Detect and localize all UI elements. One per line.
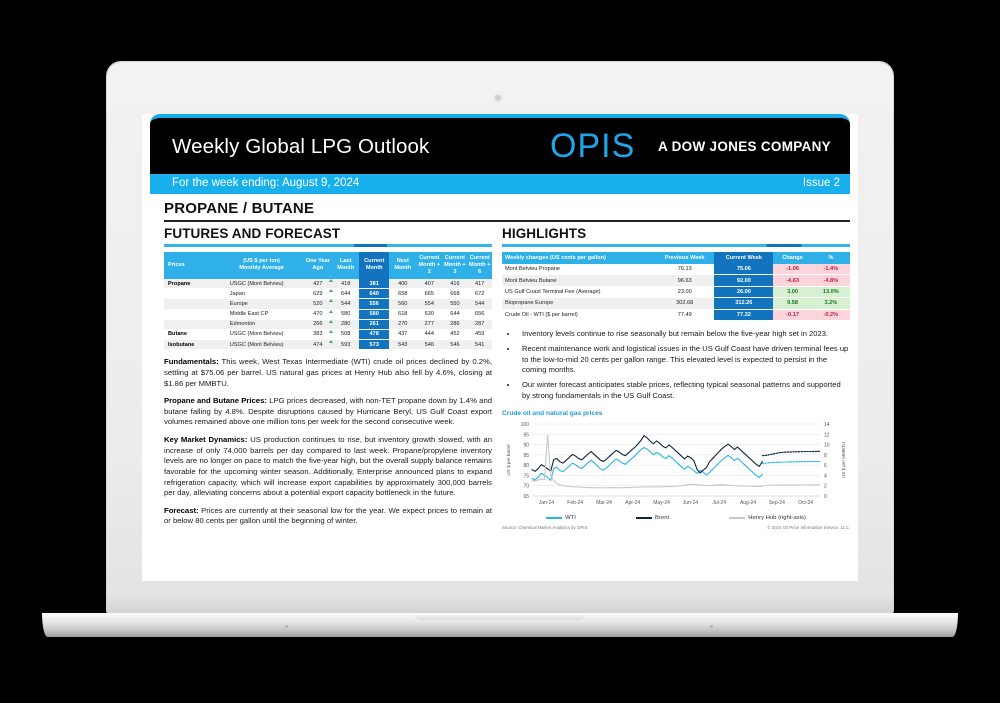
chart-ytick-left: 75 (523, 473, 529, 479)
chart-ytick-left: 100 (521, 422, 530, 428)
futures-cm3-0: 416 (442, 279, 467, 289)
futures-col-header-3: Last Month (332, 252, 359, 279)
highlights-col-header-0: Weekly changes (US cents per gallon) (502, 252, 655, 264)
chart-ytick-left: 80 (523, 463, 529, 469)
highlights-pct-0: -1.4% (812, 264, 850, 275)
masthead: Weekly Global LPG Outlook OPIS A DOW JON… (150, 114, 850, 174)
futures-cm2-6: 546 (416, 340, 442, 350)
paragraph-lead-1: Propane and Butane Prices: (164, 396, 267, 405)
table-row: PropaneUSGC (Mont Belvieu)42741838140040… (164, 279, 492, 289)
legend-label: WTI (565, 515, 576, 521)
triangle-up-icon (329, 310, 333, 313)
futures-label-4: Edmonton (220, 319, 304, 329)
highlight-bullet-1: Recent maintenance work and logistical i… (518, 344, 850, 376)
table-row: Biopropane Europe302.68312.269.583.2% (502, 298, 850, 309)
chart-xtick: Jul-24 (712, 500, 726, 506)
body-paragraph-3: Forecast: Prices are currently at their … (164, 506, 492, 527)
highlights-change-1: -4.63 (773, 275, 811, 286)
chart-legend-entry: WTI (546, 515, 576, 521)
triangle-up-icon (329, 330, 333, 333)
futures-group-6: Isobutane (164, 340, 220, 350)
triangle-up-icon (329, 279, 333, 282)
highlights-current-week-3: 312.26 (714, 298, 773, 309)
futures-cm2-2: 554 (416, 299, 442, 309)
highlights-pct-4: -0.2% (812, 309, 850, 320)
page-title: Weekly Global LPG Outlook (172, 135, 429, 159)
highlights-item-3: Biopropane Europe (502, 298, 655, 309)
futures-col-header-4: Current Month (359, 252, 389, 279)
futures-one-year-ago-6: 474 (303, 340, 332, 350)
futures-next-month-6: 543 (389, 340, 416, 350)
futures-cm3-3: 644 (442, 309, 467, 319)
chart-series-wti-forecast (762, 461, 820, 463)
highlights-column: HIGHLIGHTS Weekly changes (US cents per … (502, 226, 850, 530)
futures-next-month-1: 658 (389, 289, 416, 299)
futures-cm6-3: 656 (467, 309, 492, 319)
futures-cm6-5: 459 (467, 329, 492, 339)
table-row: Edmonton266280261270277286287 (164, 319, 492, 329)
futures-and-forecast-column: FUTURES AND FORECAST Prices(US $ per ton… (164, 226, 492, 527)
table-row: Europe520544556560554550544 (164, 299, 492, 309)
futures-group-3 (164, 309, 220, 319)
chart-xtick: Sep-24 (769, 500, 785, 506)
chart-ylabel-left: US $ per barrel (506, 444, 511, 475)
table-row: ButaneUSGC (Mont Belvieu)383508478437444… (164, 329, 492, 339)
futures-col-header-8: Current Month + 6 (467, 252, 492, 279)
highlights-table-header-row: Weekly changes (US cents per gallon)Prev… (502, 252, 850, 264)
chart-legend-entry: Henry Hub (right-axis) (729, 515, 806, 521)
chart-xtick: Apr-24 (625, 500, 640, 506)
futures-col-header-0: Prices (164, 252, 220, 279)
highlights-current-week-2: 26.00 (714, 286, 773, 297)
chart-legend: WTIBrentHenry Hub (right-axis) (502, 515, 850, 521)
highlights-change-0: -1.06 (773, 264, 811, 275)
chart-source: Source: Chemical Market Analytics by OPI… (502, 525, 587, 530)
highlights-bullet-list: Inventory levels continue to rise season… (502, 329, 850, 402)
triangle-up-icon (329, 289, 333, 292)
legend-swatch-icon (546, 517, 562, 519)
chart-ylabel-right: US $ per MMBTU (841, 442, 846, 478)
laptop-base (42, 613, 958, 637)
table-row: US Gulf Coast Terminal Fee (Average)23.0… (502, 286, 850, 297)
futures-cm6-6: 541 (467, 340, 492, 350)
futures-current-month-0: 381 (359, 279, 389, 289)
highlights-heading-rule (502, 244, 850, 247)
futures-cm6-4: 287 (467, 319, 492, 329)
futures-current-month-1: 640 (359, 289, 389, 299)
highlights-item-1: Mont Belvieu Butane (502, 275, 655, 286)
chart-series-brent (532, 435, 762, 472)
futures-last-month-3: 580 (332, 309, 359, 319)
futures-one-year-ago-4: 266 (303, 319, 332, 329)
futures-table-body: PropaneUSGC (Mont Belvieu)42741838140040… (164, 279, 492, 350)
triangle-up-icon (329, 340, 333, 343)
highlights-current-week-4: 77.32 (714, 309, 773, 320)
futures-label-2: Europe (220, 299, 304, 309)
chart-copyright: © 2024 Oil Price Information Service, LL… (767, 525, 850, 530)
futures-table: Prices(US $ per ton)Monthly AverageOne Y… (164, 252, 492, 350)
chart-xtick: May-24 (653, 500, 670, 506)
futures-cm2-5: 444 (416, 329, 442, 339)
futures-cm2-3: 630 (416, 309, 442, 319)
futures-cm3-1: 668 (442, 289, 467, 299)
webcam-icon (495, 95, 501, 101)
futures-table-header-row: Prices(US $ per ton)Monthly AverageOne Y… (164, 252, 492, 279)
body-paragraph-2: Key Market Dynamics: US production conti… (164, 435, 492, 499)
futures-cm3-6: 546 (442, 340, 467, 350)
chart-ytick-right: 12 (824, 432, 830, 438)
futures-group-1 (164, 289, 220, 299)
paragraph-lead-2: Key Market Dynamics: (164, 435, 247, 444)
futures-label-6: USGC (Mont Belvieu) (220, 340, 304, 350)
futures-one-year-ago-1: 629 (303, 289, 332, 299)
chart-ytick-left: 65 (523, 494, 529, 500)
highlight-bullet-0: Inventory levels continue to rise season… (518, 329, 850, 340)
futures-one-year-ago-2: 520 (303, 299, 332, 309)
table-row: Japan629644640658665668672 (164, 289, 492, 299)
chart-ytick-right: 8 (824, 452, 827, 458)
futures-last-month-5: 508 (332, 329, 359, 339)
document-page: Weekly Global LPG Outlook OPIS A DOW JON… (142, 114, 858, 581)
chart-series-henry-hub-right-axis- (532, 435, 762, 488)
legend-swatch-icon (636, 517, 652, 519)
laptop-screen: Weekly Global LPG Outlook OPIS A DOW JON… (142, 114, 858, 581)
futures-current-month-3: 580 (359, 309, 389, 319)
paragraph-lead-0: Fundamentals: (164, 357, 219, 366)
highlights-change-4: -0.17 (773, 309, 811, 320)
highlights-pct-1: -4.8% (812, 275, 850, 286)
chart-ytick-right: 6 (824, 463, 827, 469)
futures-group-4 (164, 319, 220, 329)
laptop-foot-right (710, 625, 713, 628)
chart-legend-entry: Brent (636, 515, 669, 521)
table-row: Middle East CP470580580618630644656 (164, 309, 492, 319)
futures-group-2 (164, 299, 220, 309)
highlights-pct-2: 13.0% (812, 286, 850, 297)
highlights-pct-3: 3.2% (812, 298, 850, 309)
issue-bar: For the week ending: August 9, 2024 Issu… (150, 174, 850, 194)
futures-col-header-7: Current Month + 3 (442, 252, 467, 279)
highlights-previous-week-4: 77.49 (655, 309, 714, 320)
futures-current-month-5: 478 (359, 329, 389, 339)
week-ending-label: For the week ending: August 9, 2024 (172, 177, 359, 189)
highlights-item-2: US Gulf Coast Terminal Fee (Average) (502, 286, 655, 297)
futures-one-year-ago-0: 427 (303, 279, 332, 289)
paragraph-lead-3: Forecast: (164, 506, 199, 515)
highlights-item-0: Mont Belvieu Propane (502, 264, 655, 275)
highlights-previous-week-0: 76.13 (655, 264, 714, 275)
futures-col-header-6: Current Month + 2 (416, 252, 442, 279)
chart-xtick: Mar-24 (596, 500, 612, 506)
futures-current-month-6: 573 (359, 340, 389, 350)
chart-ytick-left: 95 (523, 432, 529, 438)
triangle-up-icon (329, 320, 333, 323)
highlight-bullet-2: Our winter forecast anticipates stable p… (518, 380, 850, 401)
futures-current-month-2: 556 (359, 299, 389, 309)
chart-xtick: Oct-24 (798, 500, 813, 506)
futures-last-month-6: 593 (332, 340, 359, 350)
chart-ytick-left: 90 (523, 442, 529, 448)
futures-group-5: Butane (164, 329, 220, 339)
futures-next-month-4: 270 (389, 319, 416, 329)
chart-ytick-left: 85 (523, 452, 529, 458)
highlights-heading: HIGHLIGHTS (502, 226, 850, 241)
chart-footer: Source: Chemical Market Analytics by OPI… (502, 525, 850, 530)
legend-label: Henry Hub (right-axis) (748, 515, 806, 521)
highlights-current-week-1: 92.00 (714, 275, 773, 286)
highlights-table: Weekly changes (US cents per gallon)Prev… (502, 252, 850, 321)
futures-col-header-1: (US $ per ton)Monthly Average (220, 252, 304, 279)
futures-cm2-1: 665 (416, 289, 442, 299)
highlights-previous-week-3: 302.68 (655, 298, 714, 309)
futures-next-month-0: 400 (389, 279, 416, 289)
laptop-mockup: Weekly Global LPG Outlook OPIS A DOW JON… (0, 0, 1000, 703)
highlights-table-body: Mont Belvieu Propane76.1375.06-1.06-1.4%… (502, 264, 850, 320)
laptop-hinge-strip (107, 591, 893, 615)
chart-ytick-right: 2 (824, 483, 827, 489)
chart-xtick: Aug-24 (740, 500, 756, 506)
legend-swatch-icon (729, 517, 745, 519)
chart-ytick-right: 4 (824, 473, 827, 479)
highlights-current-week-0: 75.06 (714, 264, 773, 275)
futures-paragraphs: Fundamentals: This week, West Texas Inte… (164, 357, 492, 527)
highlights-col-header-2: Current Week (714, 252, 773, 264)
futures-label-1: Japan (220, 289, 304, 299)
chart-ytick-right: 14 (824, 422, 830, 428)
futures-next-month-3: 618 (389, 309, 416, 319)
highlights-change-2: 3.00 (773, 286, 811, 297)
highlights-previous-week-2: 23.00 (655, 286, 714, 297)
chart-svg: 6570758085909510002468101214US $ per bar… (502, 420, 850, 512)
futures-last-month-0: 418 (332, 279, 359, 289)
highlights-col-header-3: Change (773, 252, 811, 264)
opis-tagline: A DOW JONES COMPANY (658, 139, 831, 154)
futures-label-3: Middle East CP (220, 309, 304, 319)
futures-cm2-4: 277 (416, 319, 442, 329)
futures-one-year-ago-3: 470 (303, 309, 332, 319)
crude-oil-gas-chart: Crude oil and natural gas prices 6570758… (502, 410, 850, 530)
futures-label-0: USGC (Mont Belvieu) (220, 279, 304, 289)
highlights-previous-week-1: 96.63 (655, 275, 714, 286)
chart-title: Crude oil and natural gas prices (502, 410, 850, 417)
body-paragraph-0: Fundamentals: This week, West Texas Inte… (164, 357, 492, 389)
chart-ytick-right: 0 (824, 494, 827, 500)
triangle-up-icon (329, 299, 333, 302)
futures-cm3-5: 452 (442, 329, 467, 339)
futures-cm3-4: 286 (442, 319, 467, 329)
highlights-col-header-4: % (812, 252, 850, 264)
futures-cm6-1: 672 (467, 289, 492, 299)
futures-col-header-2: One Year Ago (303, 252, 332, 279)
legend-label: Brent (655, 515, 669, 521)
opis-logo: OPIS (550, 129, 635, 163)
futures-last-month-1: 644 (332, 289, 359, 299)
chart-plot-area: 6570758085909510002468101214US $ per bar… (502, 420, 850, 512)
table-row: IsobutaneUSGC (Mont Belvieu)474593573543… (164, 340, 492, 350)
chart-ytick-left: 70 (523, 483, 529, 489)
futures-label-5: USGC (Mont Belvieu) (220, 329, 304, 339)
table-row: Mont Belvieu Butane96.6392.00-4.63-4.8% (502, 275, 850, 286)
futures-one-year-ago-5: 383 (303, 329, 332, 339)
futures-next-month-2: 560 (389, 299, 416, 309)
futures-next-month-5: 437 (389, 329, 416, 339)
futures-last-month-4: 280 (332, 319, 359, 329)
futures-current-month-4: 261 (359, 319, 389, 329)
chart-xtick: Jan-24 (539, 500, 555, 506)
highlights-col-header-1: Previous Week (655, 252, 714, 264)
chart-xtick: Jun-24 (683, 500, 699, 506)
futures-group-0: Propane (164, 279, 220, 289)
futures-heading-rule (164, 244, 492, 247)
futures-heading: FUTURES AND FORECAST (164, 226, 492, 241)
highlights-change-3: 9.58 (773, 298, 811, 309)
chart-ytick-right: 10 (824, 442, 830, 448)
futures-last-month-2: 544 (332, 299, 359, 309)
body-paragraph-1: Propane and Butane Prices: LPG prices de… (164, 396, 492, 428)
section-title-rule (164, 220, 850, 222)
chart-xtick: Feb-24 (567, 500, 583, 506)
futures-cm6-2: 544 (467, 299, 492, 309)
table-row: Mont Belvieu Propane76.1375.06-1.06-1.4% (502, 264, 850, 275)
futures-col-header-5: Next Month (389, 252, 416, 279)
laptop-foot-left (285, 625, 288, 628)
table-row: Crude Oil - WTI ($ per barrel)77.4977.32… (502, 309, 850, 320)
highlights-item-4: Crude Oil - WTI ($ per barrel) (502, 309, 655, 320)
section-title: PROPANE / BUTANE (164, 200, 850, 220)
futures-cm3-2: 550 (442, 299, 467, 309)
issue-number-label: Issue 2 (803, 177, 840, 189)
futures-cm6-0: 417 (467, 279, 492, 289)
section-title-wrap: PROPANE / BUTANE (164, 200, 850, 222)
futures-cm2-0: 407 (416, 279, 442, 289)
